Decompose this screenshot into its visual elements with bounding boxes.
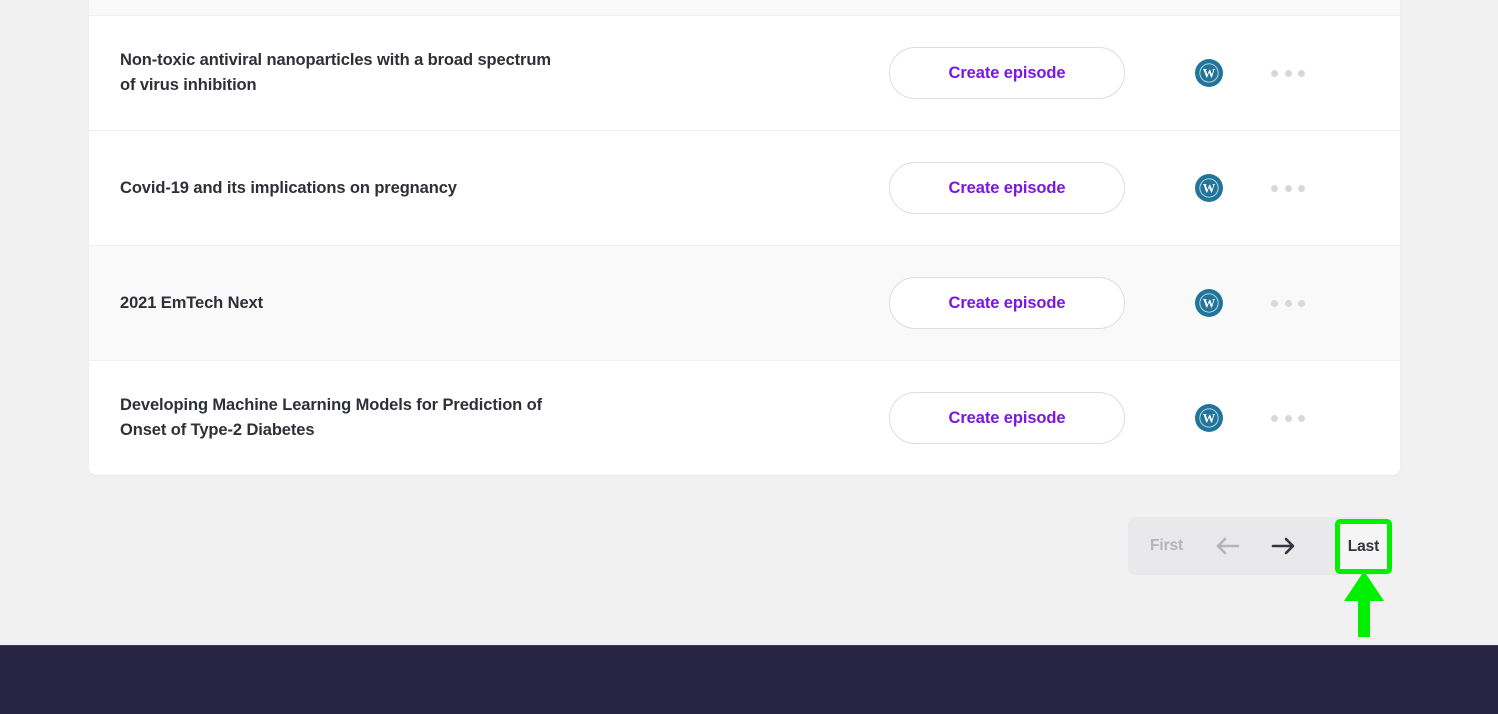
table-row[interactable]: Covid-19 and its implications on pregnan…: [89, 130, 1400, 245]
ellipsis-icon[interactable]: [1271, 293, 1305, 313]
ellipsis-dot: [1285, 185, 1292, 192]
arrow-left-icon: [1214, 535, 1240, 557]
page-content-area: Prediction of Patients with Epilepsy Cre…: [0, 0, 1498, 645]
episode-title: Developing Machine Learning Models for P…: [89, 393, 889, 443]
episode-title: Non-toxic antiviral nanoparticles with a…: [89, 48, 889, 98]
ellipsis-dot: [1271, 415, 1278, 422]
wordpress-icon[interactable]: W: [1195, 404, 1223, 432]
pagination-last-button[interactable]: Last: [1348, 538, 1379, 556]
ellipsis-dot: [1271, 70, 1278, 77]
ellipsis-dot: [1271, 185, 1278, 192]
ellipsis-dot: [1285, 415, 1292, 422]
row-actions: Create episode W: [889, 392, 1400, 444]
row-actions: Create episode W: [889, 277, 1400, 329]
table-row[interactable]: Non-toxic antiviral nanoparticles with a…: [89, 15, 1400, 130]
create-episode-button[interactable]: Create episode: [889, 162, 1125, 214]
svg-text:W: W: [1203, 411, 1216, 425]
create-episode-button[interactable]: Create episode: [889, 392, 1125, 444]
ellipsis-icon[interactable]: [1271, 63, 1305, 83]
create-episode-button[interactable]: Create episode: [889, 277, 1125, 329]
svg-text:W: W: [1203, 181, 1216, 195]
arrow-right-icon: [1271, 535, 1297, 557]
table-row[interactable]: 2021 EmTech Next Create episode W: [89, 245, 1400, 360]
ellipsis-icon[interactable]: [1271, 178, 1305, 198]
table-row[interactable]: Prediction of Patients with Epilepsy Cre…: [89, 0, 1400, 15]
ellipsis-dot: [1298, 300, 1305, 307]
wordpress-icon[interactable]: W: [1195, 174, 1223, 202]
wordpress-icon[interactable]: W: [1195, 59, 1223, 87]
episode-title: 2021 EmTech Next: [89, 291, 889, 316]
site-footer: [0, 645, 1498, 714]
pagination-first-button[interactable]: First: [1150, 537, 1183, 555]
row-actions: Create episode W: [889, 162, 1400, 214]
up-arrow-annotation: [1341, 571, 1387, 637]
wordpress-icon[interactable]: W: [1195, 289, 1223, 317]
ellipsis-dot: [1285, 70, 1292, 77]
episodes-list-card: Prediction of Patients with Epilepsy Cre…: [89, 0, 1400, 475]
ellipsis-dot: [1285, 300, 1292, 307]
episode-title: Covid-19 and its implications on pregnan…: [89, 176, 889, 201]
footer-divider: [0, 645, 1498, 646]
create-episode-button[interactable]: Create episode: [889, 47, 1125, 99]
ellipsis-dot: [1271, 300, 1278, 307]
ellipsis-dot: [1298, 415, 1305, 422]
ellipsis-dot: [1298, 185, 1305, 192]
svg-text:W: W: [1203, 296, 1216, 310]
svg-text:W: W: [1203, 66, 1216, 80]
ellipsis-dot: [1298, 70, 1305, 77]
table-row[interactable]: Developing Machine Learning Models for P…: [89, 360, 1400, 475]
ellipsis-icon[interactable]: [1271, 408, 1305, 428]
pagination-prev-button[interactable]: [1214, 535, 1240, 557]
pagination-last-highlight: Last: [1335, 519, 1392, 574]
pagination-next-button[interactable]: [1271, 535, 1297, 557]
row-actions: Create episode W: [889, 47, 1400, 99]
